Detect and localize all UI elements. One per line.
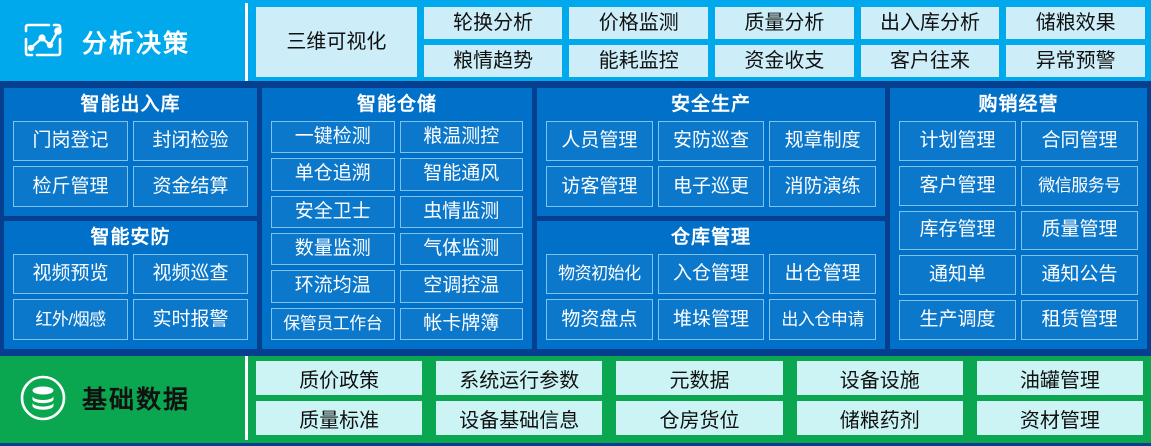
module-button[interactable]: 通知单 — [899, 255, 1016, 295]
module-button[interactable]: 虫情监测 — [400, 196, 524, 228]
analysis-column-2: 轮换分析粮情趋势 — [424, 7, 563, 77]
module-button[interactable]: 规章制度 — [769, 121, 876, 162]
analysis-column-5: 出入库分析客户往来 — [861, 7, 1000, 77]
module-button[interactable]: 检斤管理 — [13, 166, 128, 207]
module-button[interactable]: 封闭检验 — [133, 121, 248, 162]
module-button[interactable]: 帐卡牌簿 — [400, 308, 524, 340]
panel-1: 购销经营计划管理合同管理客户管理微信服务号库存管理质量管理通知单通知公告生产调度… — [890, 88, 1147, 349]
module-button[interactable]: 出入仓申请 — [769, 299, 876, 340]
basic-data-button[interactable]: 储粮药剂 — [797, 401, 963, 435]
basic-data-column-5: 油罐管理资材管理 — [977, 361, 1143, 435]
basic-data-section: 基础数据 质价政策质量标准系统运行参数设备基础信息元数据仓房货位设备设施储粮药剂… — [0, 353, 1151, 443]
analysis-column-4: 质量分析资金收支 — [715, 7, 854, 77]
panel-title: 仓库管理 — [546, 227, 876, 249]
panel-2: 仓库管理物资初始化入仓管理出仓管理物资盘点堆垛管理出入仓申请 — [537, 221, 885, 349]
module-button[interactable]: 物资初始化 — [546, 254, 653, 295]
module-button[interactable]: 生产调度 — [899, 300, 1016, 340]
column-1: 智能出入库门岗登记封闭检验检斤管理资金结算智能安防视频预览视频巡查红外/烟感实时… — [4, 88, 257, 349]
analysis-column-1: 三维可视化 — [256, 7, 417, 77]
analysis-column-3: 价格监测能耗监控 — [569, 7, 708, 77]
analysis-decision-title: 分析决策 — [82, 24, 190, 60]
analysis-button[interactable]: 价格监测 — [569, 7, 708, 39]
column-2: 智能仓储一键检测粮温测控单仓追溯智能通风安全卫士虫情监测数量监测气体监测环流均温… — [262, 88, 532, 349]
analysis-button[interactable]: 资金收支 — [715, 45, 854, 77]
analysis-button[interactable]: 能耗监控 — [569, 45, 708, 77]
basic-data-button[interactable]: 质价政策 — [256, 361, 422, 395]
analysis-decision-button-grid: 三维可视化轮换分析粮情趋势价格监测能耗监控质量分析资金收支出入库分析客户往来储粮… — [248, 3, 1151, 81]
module-button[interactable]: 门岗登记 — [13, 121, 128, 162]
basic-data-column-4: 设备设施储粮药剂 — [797, 361, 963, 435]
module-button[interactable]: 质量管理 — [1021, 211, 1138, 251]
basic-data-title: 基础数据 — [82, 380, 190, 416]
module-columns: 智能出入库门岗登记封闭检验检斤管理资金结算智能安防视频预览视频巡查红外/烟感实时… — [0, 84, 1151, 353]
module-button[interactable]: 人员管理 — [546, 121, 653, 162]
basic-data-button[interactable]: 仓房货位 — [616, 401, 782, 435]
basic-data-brand: 基础数据 — [0, 356, 248, 440]
module-button[interactable]: 通知公告 — [1021, 255, 1138, 295]
panel-1: 安全生产人员管理安防巡查规章制度访客管理电子巡更消防演练 — [537, 88, 885, 216]
module-button[interactable]: 物资盘点 — [546, 299, 653, 340]
module-button[interactable]: 数量监测 — [271, 233, 395, 265]
panel-title: 智能安防 — [13, 227, 248, 249]
panel-2: 智能安防视频预览视频巡查红外/烟感实时报警 — [4, 221, 257, 349]
module-button[interactable]: 一键检测 — [271, 121, 395, 153]
panel-cell-grid: 视频预览视频巡查红外/烟感实时报警 — [13, 254, 248, 340]
panel-title: 智能仓储 — [271, 94, 523, 116]
module-button[interactable]: 出仓管理 — [769, 254, 876, 295]
analysis-button[interactable]: 三维可视化 — [256, 7, 417, 77]
module-button[interactable]: 环流均温 — [271, 270, 395, 302]
module-button[interactable]: 粮温测控 — [400, 121, 524, 153]
analysis-column-6: 储粮效果异常预警 — [1006, 7, 1145, 77]
panel-1: 智能仓储一键检测粮温测控单仓追溯智能通风安全卫士虫情监测数量监测气体监测环流均温… — [262, 88, 532, 349]
module-button[interactable]: 空调控温 — [400, 270, 524, 302]
basic-data-button-grid: 质价政策质量标准系统运行参数设备基础信息元数据仓房货位设备设施储粮药剂油罐管理资… — [248, 356, 1151, 440]
database-stack-icon — [18, 373, 68, 423]
module-button[interactable]: 视频预览 — [13, 254, 128, 295]
module-button[interactable]: 单仓追溯 — [271, 158, 395, 190]
grain-depot-function-map: 分析决策 三维可视化轮换分析粮情趋势价格监测能耗监控质量分析资金收支出入库分析客… — [0, 0, 1151, 446]
basic-data-button[interactable]: 设备设施 — [797, 361, 963, 395]
basic-data-button[interactable]: 资材管理 — [977, 401, 1143, 435]
analysis-button[interactable]: 客户往来 — [861, 45, 1000, 77]
panel-title: 购销经营 — [899, 94, 1138, 116]
module-button[interactable]: 客户管理 — [899, 166, 1016, 206]
module-button[interactable]: 保管员工作台 — [271, 308, 395, 340]
analysis-button[interactable]: 异常预警 — [1006, 45, 1145, 77]
module-button[interactable]: 气体监测 — [400, 233, 524, 265]
basic-data-button[interactable]: 元数据 — [616, 361, 782, 395]
basic-data-column-3: 元数据仓房货位 — [616, 361, 782, 435]
basic-data-column-1: 质价政策质量标准 — [256, 361, 422, 435]
analytics-chart-icon — [18, 17, 68, 67]
analysis-button[interactable]: 质量分析 — [715, 7, 854, 39]
module-button[interactable]: 电子巡更 — [658, 166, 765, 207]
basic-data-button[interactable]: 质量标准 — [256, 401, 422, 435]
module-button[interactable]: 库存管理 — [899, 211, 1016, 251]
module-button[interactable]: 租赁管理 — [1021, 300, 1138, 340]
panel-cell-grid: 一键检测粮温测控单仓追溯智能通风安全卫士虫情监测数量监测气体监测环流均温空调控温… — [271, 121, 523, 340]
panel-cell-grid: 门岗登记封闭检验检斤管理资金结算 — [13, 121, 248, 207]
module-button[interactable]: 堆垛管理 — [658, 299, 765, 340]
module-button[interactable]: 安防巡查 — [658, 121, 765, 162]
analysis-button[interactable]: 出入库分析 — [861, 7, 1000, 39]
panel-title: 安全生产 — [546, 94, 876, 116]
analysis-button[interactable]: 轮换分析 — [424, 7, 563, 39]
basic-data-button[interactable]: 设备基础信息 — [436, 401, 602, 435]
module-button[interactable]: 入仓管理 — [658, 254, 765, 295]
analysis-decision-section: 分析决策 三维可视化轮换分析粮情趋势价格监测能耗监控质量分析资金收支出入库分析客… — [0, 0, 1151, 84]
panel-cell-grid: 计划管理合同管理客户管理微信服务号库存管理质量管理通知单通知公告生产调度租赁管理 — [899, 121, 1138, 340]
panel-title: 智能出入库 — [13, 94, 248, 116]
module-button[interactable]: 智能通风 — [400, 158, 524, 190]
module-button[interactable]: 访客管理 — [546, 166, 653, 207]
module-button[interactable]: 微信服务号 — [1021, 166, 1138, 206]
analysis-decision-brand: 分析决策 — [0, 3, 248, 81]
basic-data-button[interactable]: 油罐管理 — [977, 361, 1143, 395]
panel-cell-grid: 物资初始化入仓管理出仓管理物资盘点堆垛管理出入仓申请 — [546, 254, 876, 340]
column-3: 安全生产人员管理安防巡查规章制度访客管理电子巡更消防演练仓库管理物资初始化入仓管… — [537, 88, 885, 349]
panel-1: 智能出入库门岗登记封闭检验检斤管理资金结算 — [4, 88, 257, 216]
module-button[interactable]: 视频巡查 — [133, 254, 248, 295]
column-4: 购销经营计划管理合同管理客户管理微信服务号库存管理质量管理通知单通知公告生产调度… — [890, 88, 1147, 349]
module-button[interactable]: 安全卫士 — [271, 196, 395, 228]
module-button[interactable]: 合同管理 — [1021, 121, 1138, 161]
module-button[interactable]: 资金结算 — [133, 166, 248, 207]
basic-data-button[interactable]: 系统运行参数 — [436, 361, 602, 395]
module-button[interactable]: 实时报警 — [133, 299, 248, 340]
basic-data-column-2: 系统运行参数设备基础信息 — [436, 361, 602, 435]
analysis-button[interactable]: 储粮效果 — [1006, 7, 1145, 39]
module-button[interactable]: 计划管理 — [899, 121, 1016, 161]
module-button[interactable]: 消防演练 — [769, 166, 876, 207]
analysis-button[interactable]: 粮情趋势 — [424, 45, 563, 77]
module-button[interactable]: 红外/烟感 — [13, 299, 128, 340]
panel-cell-grid: 人员管理安防巡查规章制度访客管理电子巡更消防演练 — [546, 121, 876, 207]
